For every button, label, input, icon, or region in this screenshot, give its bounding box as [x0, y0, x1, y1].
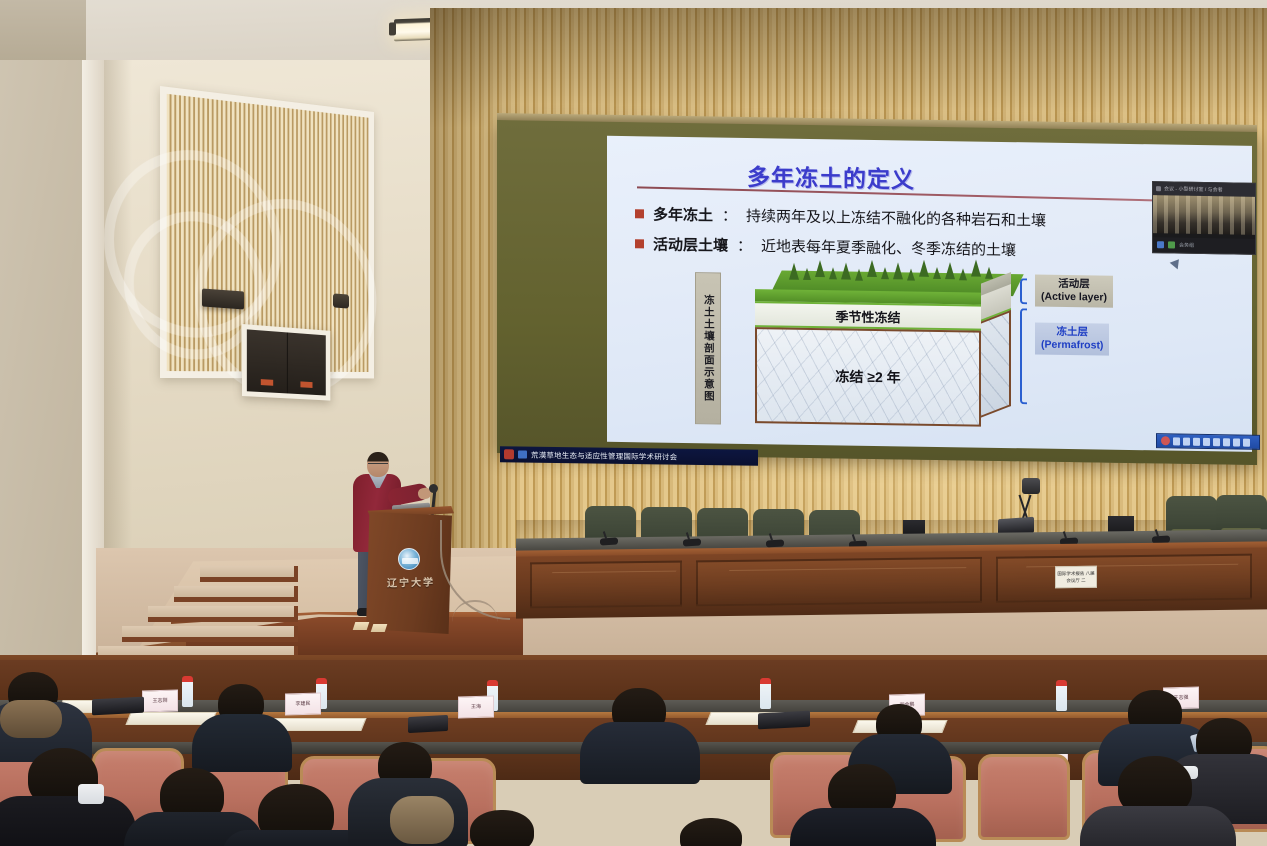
speaker-grille [247, 329, 326, 395]
name-card: 王志刚 [142, 690, 178, 713]
bullet-1-text: 持续两年及以上冻结不融化的各种岩石和土壤 [746, 205, 1046, 231]
face-mask [78, 784, 104, 804]
wall-speaker-cabinet [242, 324, 330, 401]
participants-icon[interactable] [1203, 437, 1210, 445]
name-card-text: 王海 [471, 704, 481, 710]
water-bottle [182, 676, 193, 707]
bullet-2-term: 活动层土壤 [653, 233, 728, 255]
water-bottle [760, 678, 771, 709]
bullet-square-icon [635, 239, 644, 248]
mic-icon[interactable] [1173, 437, 1180, 445]
podium-institution-label: 辽宁大学 [382, 573, 440, 589]
permafrost-tag-en: (Permafrost) [1041, 339, 1103, 353]
name-card-text: 王志刚 [152, 698, 167, 704]
screen-share-icon [518, 450, 527, 458]
audience-person-body [580, 722, 700, 784]
diagram-vertical-label: 冻土土壤剖面示意图 [695, 272, 721, 424]
conference-banner-text: 荒漠草地生态与适应性管理国际学术研讨会 [531, 449, 677, 462]
audience-person-body [790, 808, 936, 846]
projection-screen: 多年冻土的定义 多年冻土 ： 持续两年及以上冻结不融化的各种岩石和土壤 活动层土… [497, 120, 1257, 465]
wall-spotlight [333, 293, 349, 308]
stage-step [174, 586, 298, 602]
presenter-glasses [368, 463, 388, 467]
dais-panel-inset [996, 554, 1252, 603]
lecture-hall-photo: 多年冻土的定义 多年冻土 ： 持续两年及以上冻结不融化的各种岩石和土壤 活动层土… [0, 0, 1267, 846]
dais-panel-inset [530, 561, 682, 609]
video-conference-toolbar[interactable] [1156, 433, 1260, 450]
video-conference-panel[interactable]: 会议 - 小型研讨室 / 与会者 会务组 [1152, 181, 1256, 255]
desk-microphone [683, 539, 701, 547]
floor-paper [353, 622, 370, 630]
dais-panel-inset [696, 557, 982, 606]
active-layer-tag: 活动层 (Active layer) [1035, 274, 1113, 307]
video-panel-footer-label: 会务组 [1179, 242, 1194, 249]
video-panel-title: 会议 - 小型研讨室 / 与会者 [1164, 185, 1223, 193]
speaker-driver-right [287, 332, 325, 395]
timer-icon[interactable] [1193, 437, 1200, 445]
dais-front-panel [516, 547, 1267, 618]
stage-step [200, 566, 298, 582]
permafrost-tag: 冻土层 (Permafrost) [1035, 322, 1109, 355]
audience-person-fur-collar [0, 700, 62, 738]
permafrost-layer-body: 冻结 ≥2 年 [755, 327, 981, 427]
wall-mounted-projector [202, 289, 244, 310]
settings-icon[interactable] [1223, 438, 1230, 446]
speaker-driver-left [247, 329, 288, 393]
dais-desk-sign: 国际学术报告 八届 会议厅 二 [1055, 566, 1097, 589]
permafrost-tag-cn: 冻土层 [1041, 326, 1103, 340]
video-feed-audience [1153, 195, 1255, 235]
bullet-2-separator: ： [737, 235, 752, 256]
window-menu-icon[interactable] [1156, 186, 1161, 191]
chat-icon[interactable] [1213, 438, 1220, 446]
audience-person-head [680, 818, 742, 846]
jbl-badge-icon [301, 381, 313, 388]
left-wall-top [0, 0, 86, 60]
microphone-icon [429, 484, 438, 493]
stage-step [148, 606, 298, 622]
slide-bullet-1: 多年冻土 ： 持续两年及以上冻结不融化的各种岩石和土壤 [635, 203, 1046, 230]
active-layer-tag-cn: 活动层 [1041, 278, 1107, 292]
conference-logo-icon [504, 449, 514, 459]
audience-person-head [470, 810, 534, 846]
bullet-1-term: 多年冻土 [653, 203, 713, 225]
mouse-cursor-icon [1170, 259, 1183, 271]
name-card: 王海 [458, 696, 494, 719]
video-icon[interactable] [1233, 438, 1240, 446]
audience-person-body [0, 796, 136, 846]
audience-person-body [192, 714, 292, 772]
participant-icon[interactable] [1157, 241, 1164, 248]
layout-icon[interactable] [1243, 438, 1250, 446]
slide-title-rule [637, 186, 1237, 203]
desk-microphone [766, 540, 784, 548]
water-bottle [1056, 680, 1067, 711]
bullet-1-separator: ： [722, 205, 737, 226]
mic-icon[interactable] [1168, 241, 1175, 248]
video-panel-footer[interactable]: 会务组 [1153, 237, 1255, 254]
stage-wall-top-shadow [430, 8, 1267, 128]
stage-step [122, 626, 298, 642]
permafrost-brace-icon [1020, 308, 1027, 404]
seasonal-freeze-band: 季节性冻结 [755, 301, 981, 331]
audience-laptop [92, 697, 144, 716]
floor-paper [371, 624, 388, 632]
video-camera [1022, 478, 1040, 494]
jbl-badge-icon [261, 379, 273, 386]
active-layer-brace-icon [1020, 278, 1027, 304]
name-card-text: 李建民 [295, 701, 310, 707]
active-layer-tag-en: (Active layer) [1041, 291, 1107, 305]
record-icon[interactable] [1161, 436, 1170, 445]
audience-person-body [1080, 806, 1236, 846]
desk-microphone [600, 538, 618, 546]
permafrost-soil-block-diagram: 季节性冻结 冻结 ≥2 年 [755, 270, 1013, 432]
audience-laptop [408, 715, 448, 733]
audience-laptop [758, 711, 810, 730]
university-crest-icon [398, 548, 420, 570]
left-wall-column [0, 0, 86, 700]
vegetation-trees [785, 255, 1005, 284]
permafrost-layer-side [981, 310, 1011, 418]
audience-person-fur-collar [390, 796, 454, 844]
bullet-square-icon [635, 209, 644, 218]
share-icon[interactable] [1183, 437, 1190, 445]
name-card: 李建民 [285, 693, 321, 716]
auditorium-seat [978, 754, 1070, 840]
